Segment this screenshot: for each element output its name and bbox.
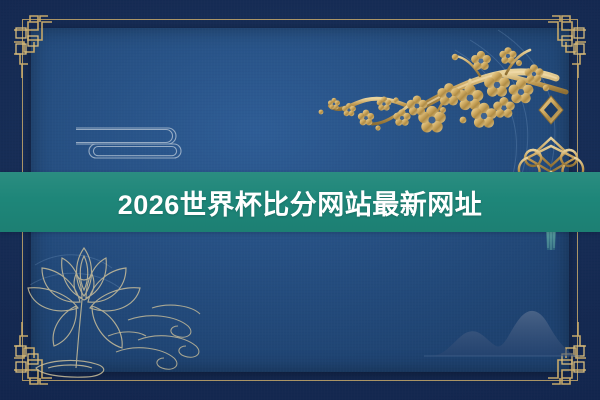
page-title: 2026世界杯比分网站最新网址 <box>118 183 483 222</box>
title-band: 2026世界杯比分网站最新网址 <box>0 172 600 232</box>
poster-canvas: 2026世界杯比分网站最新网址 <box>0 0 600 400</box>
